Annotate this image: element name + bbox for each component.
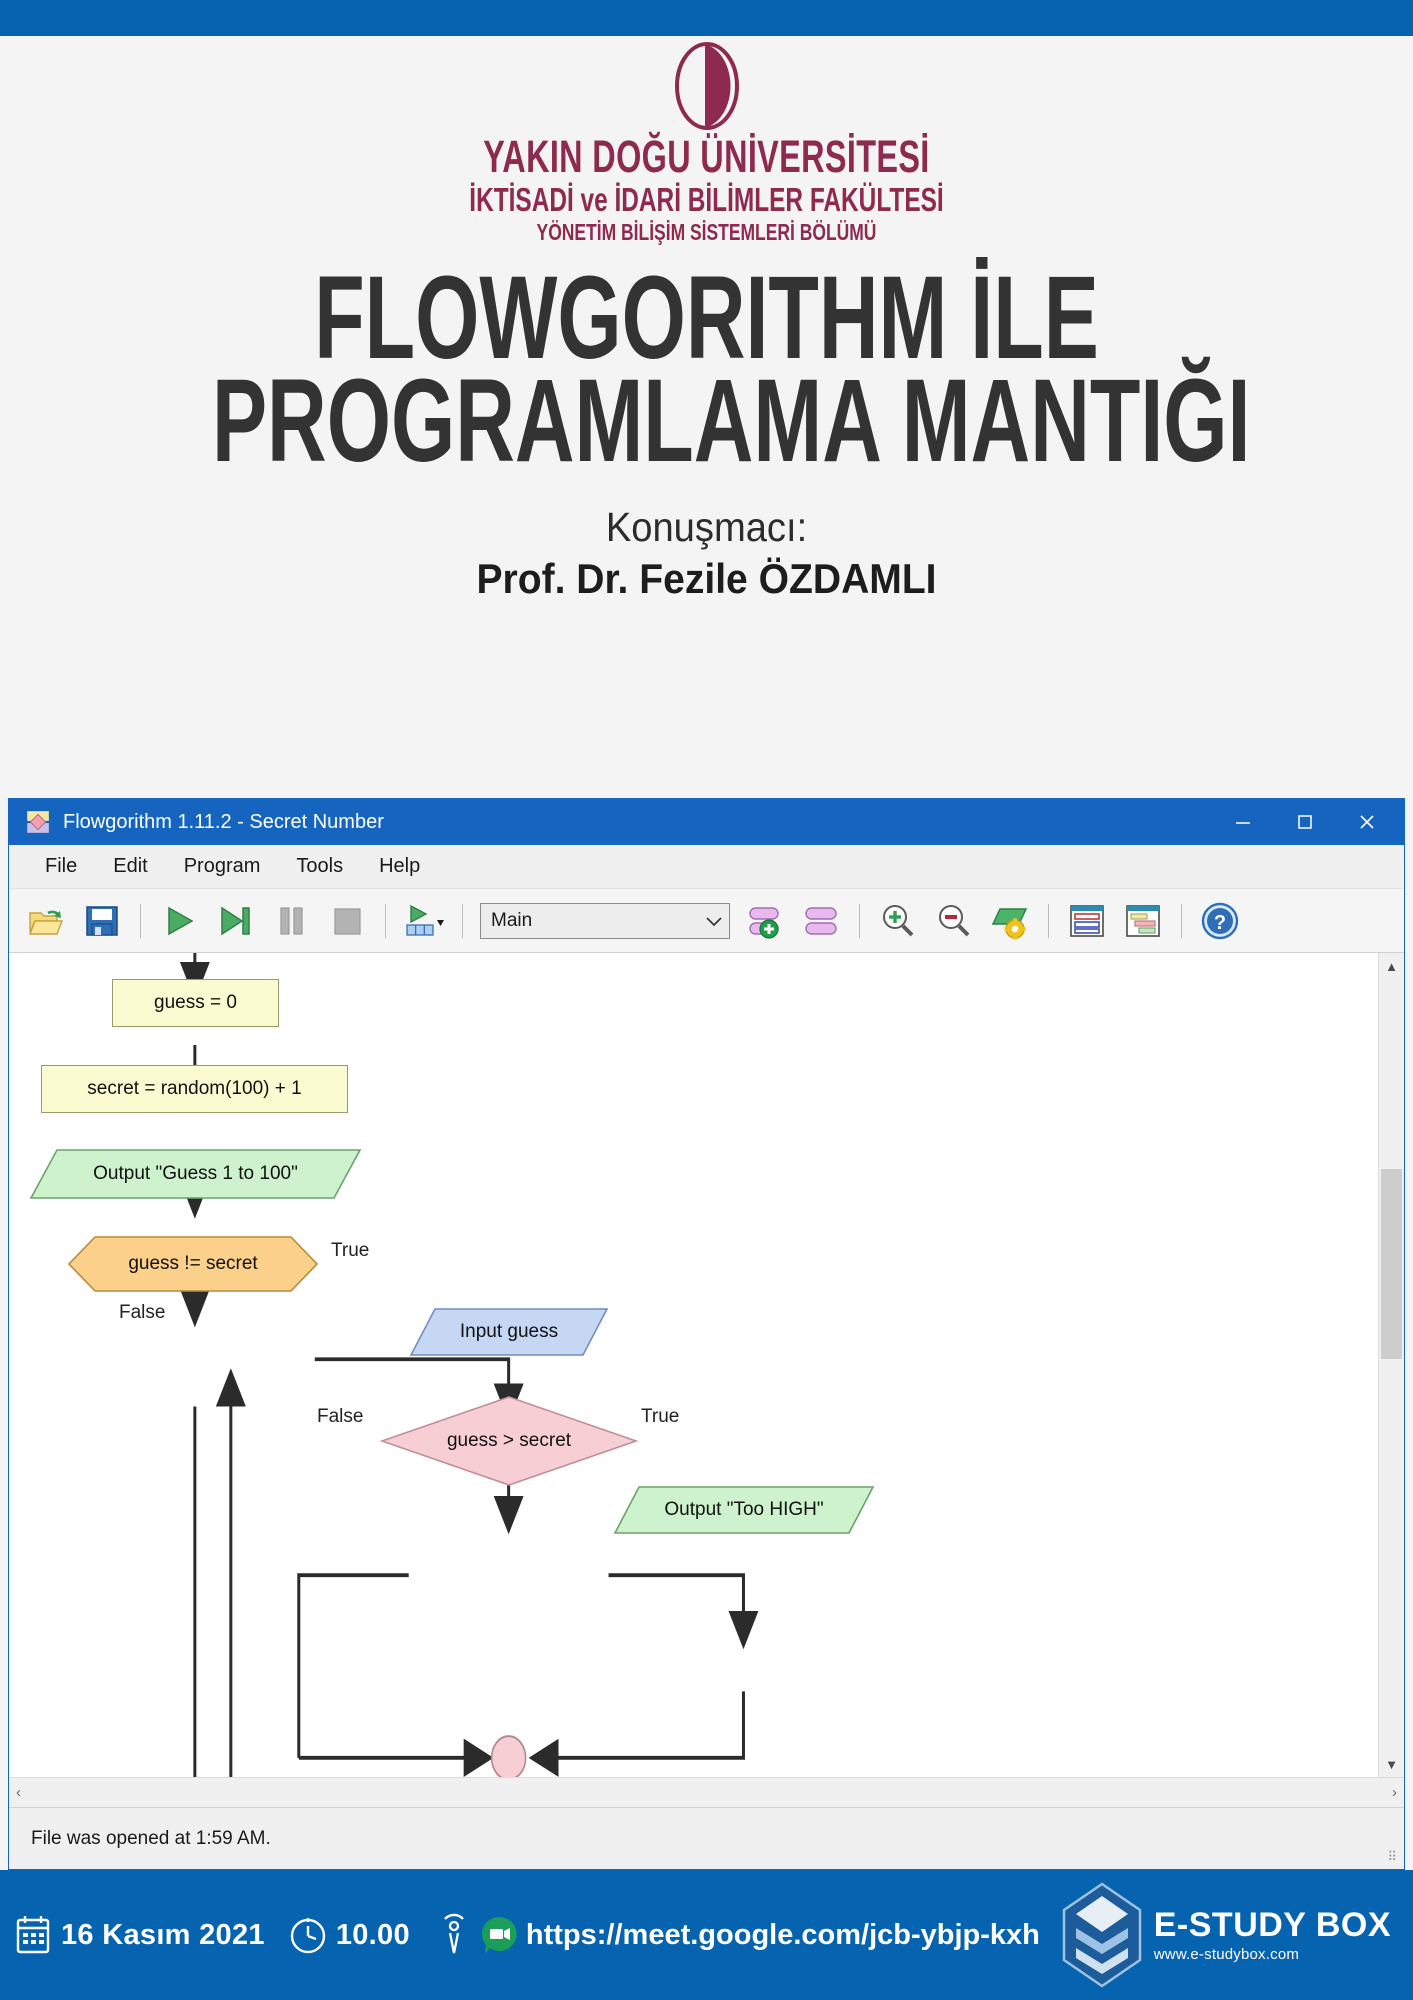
speaker-label: Konuşmacı:: [49, 504, 1363, 551]
toolbar-separator: [140, 904, 141, 938]
faculty-part2: İDARİ BİLİMLER FAKÜLTESİ: [614, 181, 943, 218]
university-name: YAKIN DOĞU ÜNİVERSİTESİ: [198, 134, 1215, 181]
edge-label-if-false: False: [317, 1406, 363, 1428]
edge-label-while-true: True: [331, 1240, 369, 1262]
footer-meeting-link[interactable]: https://meet.google.com/jcb-ybjp-kxh: [436, 1913, 1040, 1957]
page-title: FLOWGORITHM İLE PROGRAMLAMA MANTIĞI: [212, 267, 1201, 475]
window-controls: [1212, 799, 1398, 845]
functions-icon[interactable]: [794, 894, 848, 948]
clock-icon: [287, 1914, 329, 1956]
menubar: File Edit Program Tools Help: [9, 845, 1404, 889]
faculty-conjunction: ve: [581, 181, 608, 218]
footer-bar: 16 Kasım 2021 10.00 https://meet.google.…: [0, 1870, 1413, 2000]
brand-name: E-STUDY BOX: [1154, 1908, 1391, 1942]
calendar-icon: [14, 1914, 54, 1956]
poster-header: YAKIN DOĞU ÜNİVERSİTESİ İKTİSADİ ve İDAR…: [0, 36, 1413, 603]
toolbar-separator: [462, 904, 463, 938]
menu-tools[interactable]: Tools: [278, 851, 361, 882]
open-file-icon[interactable]: [19, 894, 73, 948]
shape-settings-icon[interactable]: [983, 894, 1037, 948]
svg-text:?: ?: [1214, 912, 1226, 934]
menu-file[interactable]: File: [27, 851, 95, 882]
console-window-icon[interactable]: [1116, 894, 1170, 948]
flow-node-assignment-2[interactable]: secret = random(100) + 1: [41, 1065, 348, 1113]
footer-date: 16 Kasım 2021: [14, 1914, 265, 1956]
flow-node-text: Input guess: [460, 1321, 558, 1343]
scroll-right-arrow[interactable]: ›: [1392, 1784, 1397, 1801]
close-button[interactable]: [1336, 799, 1398, 845]
flow-node-output-1[interactable]: Output "Guess 1 to 100": [29, 1148, 362, 1200]
canvas-area: guess = 0 secret = random(100) + 1 Outpu…: [9, 953, 1404, 1777]
ndu-crescent-logo: [668, 42, 746, 130]
footer-time-text: 10.00: [336, 1919, 410, 1952]
edge-label-if-true: True: [641, 1406, 679, 1428]
statusbar: File was opened at 1:59 AM. ⠿: [9, 1807, 1404, 1869]
brand-text-block: E-STUDY BOX www.e-studybox.com: [1154, 1908, 1391, 1962]
vertical-scroll-thumb[interactable]: [1381, 1169, 1402, 1359]
flow-node-assignment-1[interactable]: guess = 0: [112, 979, 279, 1027]
flow-node-input[interactable]: Input guess: [409, 1307, 609, 1357]
zoom-in-icon[interactable]: [871, 894, 925, 948]
toolbar-separator: [385, 904, 386, 938]
resize-grip[interactable]: ⠿: [1387, 1849, 1398, 1865]
flowgorithm-app-icon: [25, 809, 51, 835]
flow-node-while[interactable]: guess != secret: [67, 1235, 319, 1293]
title-line-2: PROGRAMLAMA MANTIĞI: [212, 370, 1201, 474]
horizontal-scrollbar[interactable]: ‹ ›: [9, 1777, 1404, 1807]
e-study-box-logo: [1058, 1880, 1146, 1990]
generate-code-icon[interactable]: [397, 894, 451, 948]
toolbar: Main: [9, 889, 1404, 953]
menu-program[interactable]: Program: [166, 851, 279, 882]
flow-node-text: guess != secret: [128, 1253, 257, 1275]
window-title: Flowgorithm 1.11.2 - Secret Number: [63, 811, 1212, 834]
flowchart-canvas[interactable]: guess = 0 secret = random(100) + 1 Outpu…: [9, 953, 1378, 1777]
menu-help[interactable]: Help: [361, 851, 438, 882]
top-accent-strip: [0, 0, 1413, 36]
add-function-icon[interactable]: [738, 894, 792, 948]
department-name: YÖNETİM BİLİŞİM SİSTEMLERİ BÖLÜMÜ: [170, 220, 1244, 244]
status-text: File was opened at 1:59 AM.: [31, 1828, 271, 1850]
vertical-scroll-track[interactable]: [1379, 979, 1404, 1751]
stop-icon[interactable]: [320, 894, 374, 948]
toolbar-separator: [859, 904, 860, 938]
brand-url: www.e-studybox.com: [1154, 1947, 1391, 1962]
run-icon[interactable]: [152, 894, 206, 948]
pause-icon[interactable]: [264, 894, 318, 948]
footer-date-text: 16 Kasım 2021: [61, 1919, 265, 1952]
faculty-name: İKTİSADİ ve İDARİ BİLİMLER FAKÜLTESİ: [184, 183, 1230, 218]
zoom-out-icon[interactable]: [927, 894, 981, 948]
maximize-button[interactable]: [1274, 799, 1336, 845]
vertical-scrollbar[interactable]: ▲ ▼: [1378, 953, 1404, 1777]
speaker-name: Prof. Dr. Fezile ÖZDAMLI: [49, 555, 1363, 603]
e-study-box-brand: E-STUDY BOX www.e-studybox.com: [1058, 1880, 1399, 1990]
toolbar-separator: [1181, 904, 1182, 938]
flow-node-text: guess > secret: [447, 1430, 571, 1452]
flowgorithm-window: Flowgorithm 1.11.2 - Secret Number File …: [8, 798, 1405, 1870]
faculty-part1: İKTİSADİ: [469, 181, 573, 218]
save-file-icon[interactable]: [75, 894, 129, 948]
step-icon[interactable]: [208, 894, 262, 948]
footer-link-text[interactable]: https://meet.google.com/jcb-ybjp-kxh: [526, 1919, 1040, 1952]
broadcast-icon: [436, 1913, 472, 1957]
footer-time: 10.00: [287, 1914, 410, 1956]
scroll-up-arrow[interactable]: ▲: [1379, 953, 1404, 979]
menu-edit[interactable]: Edit: [95, 851, 165, 882]
help-icon[interactable]: ?: [1193, 894, 1247, 948]
flow-node-if[interactable]: guess > secret: [380, 1395, 638, 1487]
flow-node-text: guess = 0: [154, 992, 237, 1014]
scroll-left-arrow[interactable]: ‹: [16, 1784, 21, 1801]
scroll-down-arrow[interactable]: ▼: [1379, 1751, 1404, 1777]
window-titlebar: Flowgorithm 1.11.2 - Secret Number: [9, 799, 1404, 845]
chevron-down-icon: [705, 915, 723, 927]
flow-node-text: secret = random(100) + 1: [87, 1078, 301, 1100]
edge-label-while-false: False: [119, 1302, 165, 1324]
flow-node-output-2[interactable]: Output "Too HIGH": [613, 1485, 875, 1535]
google-meet-icon: [479, 1914, 519, 1956]
toolbar-separator: [1048, 904, 1049, 938]
variable-watch-icon[interactable]: [1060, 894, 1114, 948]
minimize-button[interactable]: [1212, 799, 1274, 845]
function-select-value: Main: [491, 910, 705, 932]
flow-node-text: Output "Guess 1 to 100": [93, 1163, 298, 1185]
flow-node-text: Output "Too HIGH": [664, 1499, 823, 1521]
function-select[interactable]: Main: [480, 903, 730, 939]
